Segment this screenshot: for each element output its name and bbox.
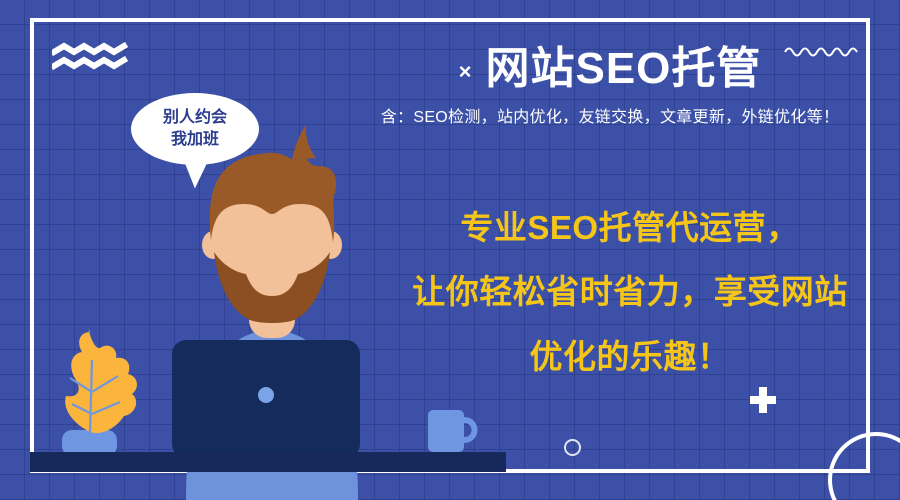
speech-bubble-line-2: 我加班 bbox=[171, 129, 219, 151]
desk-scene-illustration bbox=[0, 0, 900, 500]
speech-bubble-line-1: 别人约会 bbox=[163, 107, 227, 129]
laptop-logo-dot-icon bbox=[258, 387, 274, 403]
mug-body-shape bbox=[428, 410, 464, 452]
seo-hosting-banner: 别人约会 我加班 × 网站SEO托管 含：SEO检测，站内优化，友链交换，文章更… bbox=[0, 0, 900, 500]
speech-bubble: 别人约会 我加班 bbox=[131, 93, 259, 165]
desk-surface-shape bbox=[30, 452, 506, 472]
mug-handle-shape bbox=[464, 420, 475, 440]
